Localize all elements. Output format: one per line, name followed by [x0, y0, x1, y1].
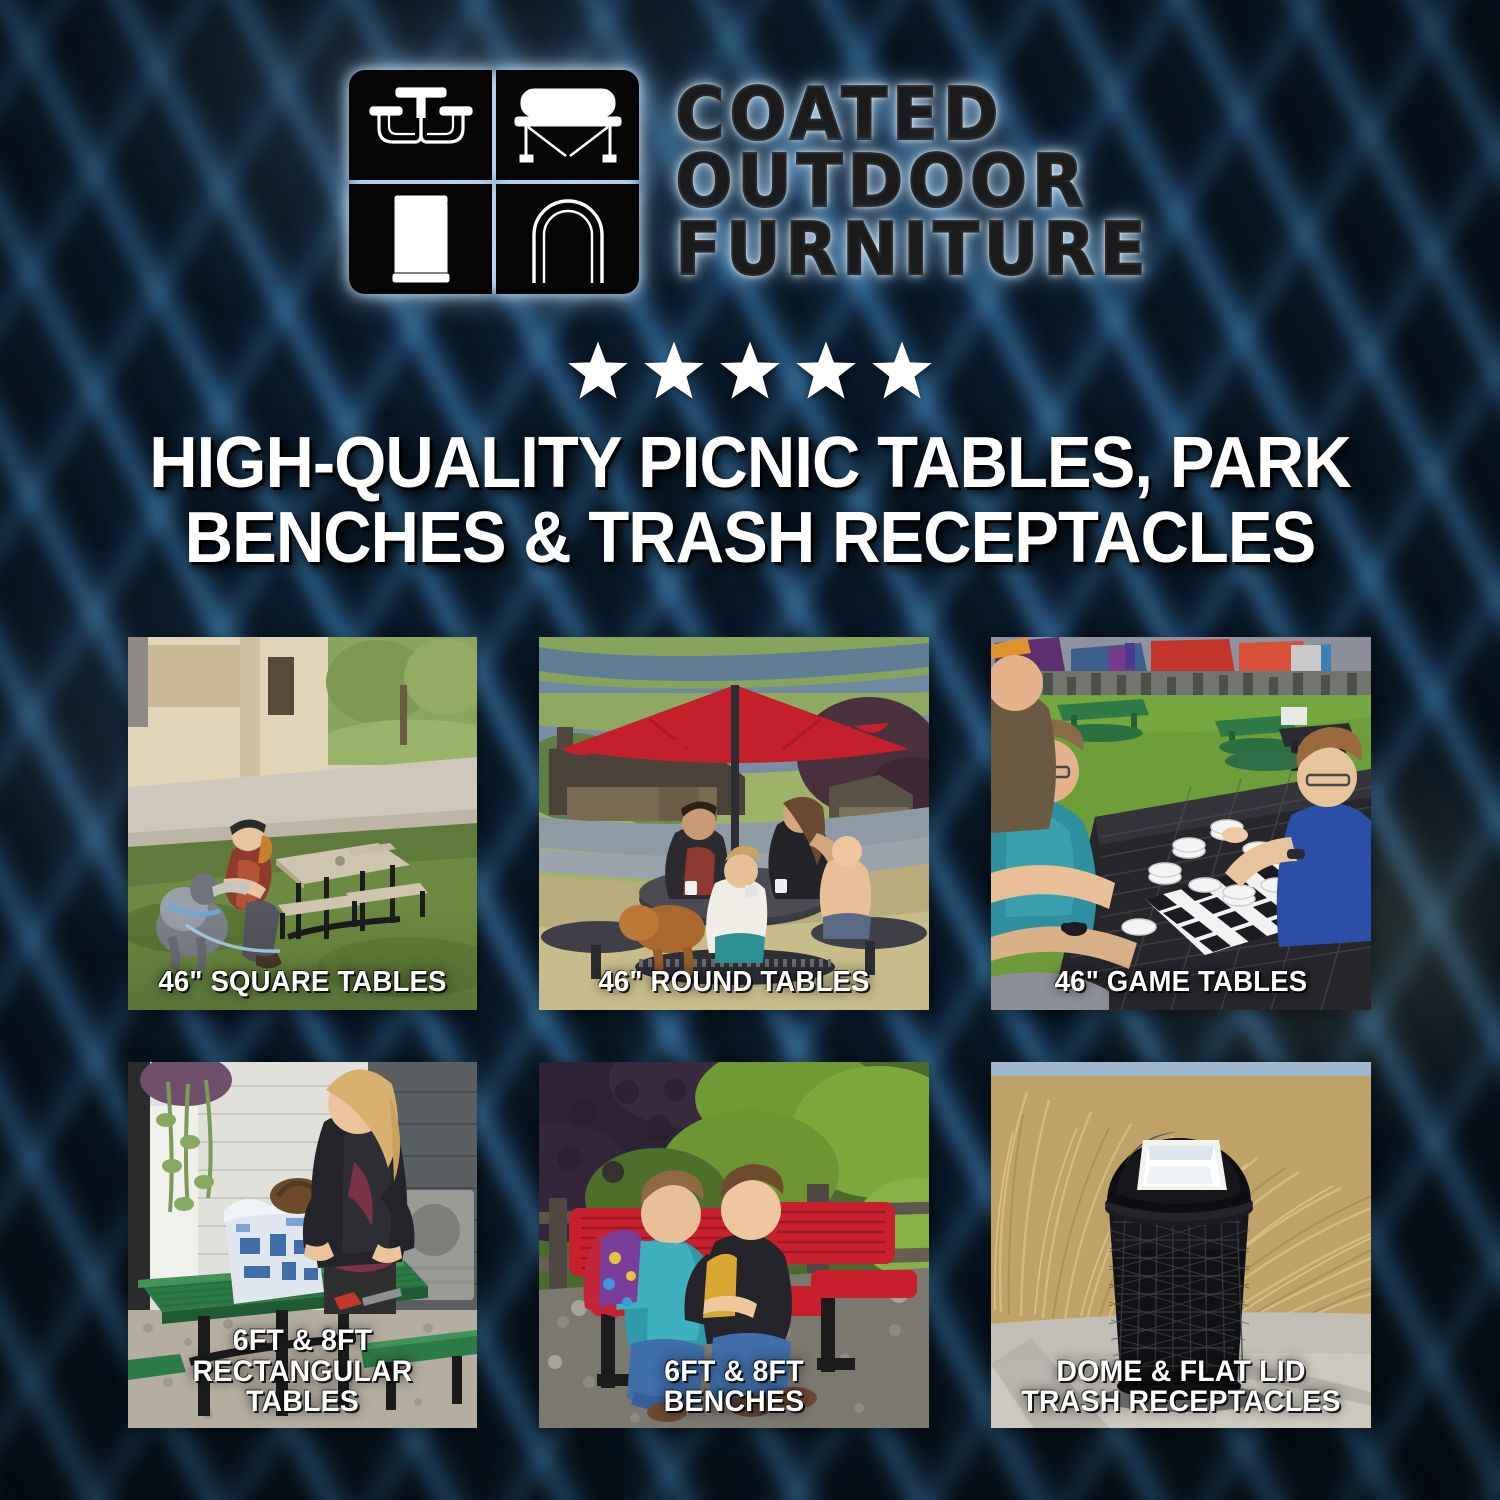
headline-line-2: BENCHES & TRASH RECEPTACLES — [108, 501, 1391, 576]
photo-woman-with-dog-at-square-table — [128, 637, 477, 1010]
product-card-benches[interactable]: 6FT & 8FT BENCHES — [539, 1062, 929, 1428]
trash-receptacle-icon — [349, 184, 492, 294]
rating-stars — [0, 340, 1500, 400]
photo-checkers-on-game-table — [991, 637, 1371, 1010]
product-card-square-tables[interactable]: 46" SQUARE TABLES — [128, 637, 477, 1010]
star-icon — [719, 340, 781, 400]
product-caption-trash-receptacles: DOME & FLAT LID TRASH RECEPTACLES — [1001, 1357, 1362, 1418]
brand-logo: COATED OUTDOOR FURNITURE — [0, 0, 1500, 294]
bike-rack-icon — [496, 184, 639, 294]
logo-wordmark: COATED OUTDOOR FURNITURE — [675, 82, 1150, 283]
product-caption-round-tables: 46" ROUND TABLES — [549, 968, 920, 998]
product-caption-benches: 6FT & 8FT BENCHES — [549, 1357, 920, 1418]
photo-family-at-round-table-with-umbrella — [539, 637, 929, 1010]
star-icon — [871, 340, 933, 400]
product-card-round-tables[interactable]: 46" ROUND TABLES — [539, 637, 929, 1010]
product-caption-rectangular-tables: 6FT & 8FT RECTANGULAR TABLES — [137, 1326, 469, 1418]
product-caption-game-tables: 46" GAME TABLES — [1001, 968, 1362, 998]
product-caption-square-tables: 46" SQUARE TABLES — [137, 968, 469, 998]
product-card-rectangular-tables[interactable]: 6FT & 8FT RECTANGULAR TABLES — [128, 1062, 477, 1428]
logo-icon-grid — [349, 70, 639, 294]
logo-word-furniture: FURNITURE — [675, 214, 1150, 285]
page-title: HIGH-QUALITY PICNIC TABLES, PARK BENCHES… — [53, 426, 1448, 576]
product-category-grid: 46" SQUARE TABLES — [128, 637, 1380, 1428]
star-icon — [567, 340, 629, 400]
picnic-table-icon — [349, 70, 492, 180]
product-card-game-tables[interactable]: 46" GAME TABLES — [991, 637, 1371, 1010]
star-icon — [643, 340, 705, 400]
star-icon — [795, 340, 857, 400]
bench-icon — [496, 70, 639, 180]
headline-line-1: HIGH-QUALITY PICNIC TABLES, PARK — [108, 426, 1391, 501]
product-card-trash-receptacles[interactable]: DOME & FLAT LID TRASH RECEPTACLES — [991, 1062, 1371, 1428]
